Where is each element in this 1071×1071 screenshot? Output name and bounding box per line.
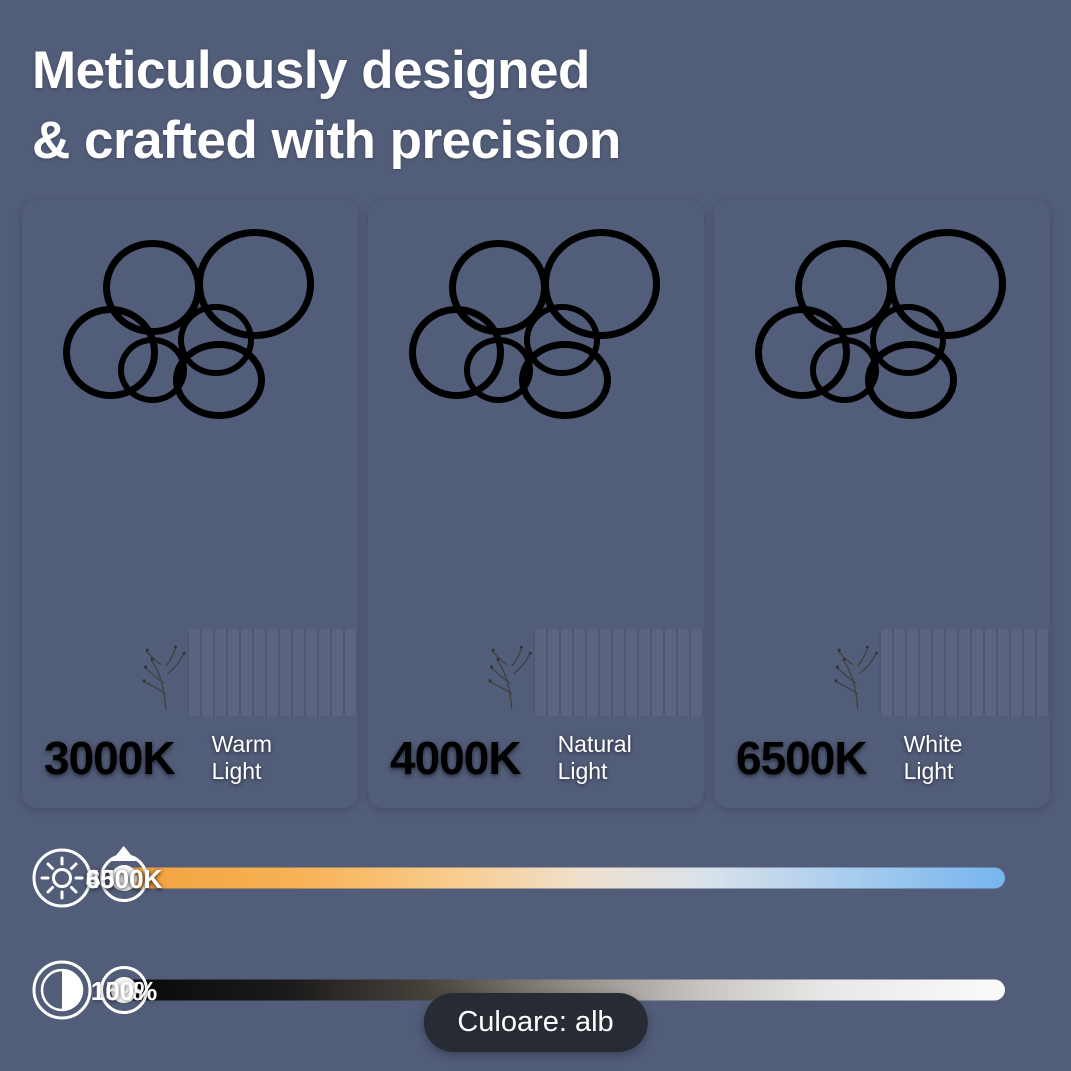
temperature-marker: 6500K <box>86 846 163 895</box>
ceiling-white <box>714 200 1050 583</box>
contrast-icon <box>30 958 94 1022</box>
pendant-cord <box>385 558 388 635</box>
color-temperature-card-list: 3000K Warm Light <box>22 200 1050 808</box>
light-type-line-2: Light <box>904 758 963 785</box>
light-type-line-1: White <box>904 731 963 758</box>
lamp-ring <box>173 341 265 420</box>
lamp-ring <box>865 341 957 420</box>
kelvin-value: 6500K <box>736 735 867 781</box>
light-type-line-1: Natural <box>558 731 632 758</box>
temperature-track-wrap[interactable]: 3000K 4000K 6500K <box>124 846 1040 910</box>
led-ring-lamp <box>738 223 1027 430</box>
light-type-label: Warm Light <box>212 731 272 785</box>
temperature-markers: 3000K 4000K 6500K <box>124 846 1005 926</box>
color-temperature-card-4000k[interactable]: 4000K Natural Light <box>368 200 704 808</box>
pendant-cord <box>39 558 42 635</box>
light-type-label: Natural Light <box>558 731 632 785</box>
color-temperature-slider-row: 3000K 4000K 6500K <box>30 838 1040 918</box>
led-ring-lamp <box>392 223 681 430</box>
light-type-line-2: Light <box>212 758 272 785</box>
kelvin-value: 4000K <box>390 735 521 781</box>
color-status-badge: Culoare: alb <box>423 993 647 1052</box>
light-type-line-2: Light <box>558 758 632 785</box>
ceiling-warm <box>22 200 358 583</box>
pendant-cord <box>731 558 734 635</box>
color-temperature-card-3000k[interactable]: 3000K Warm Light <box>22 200 358 808</box>
card-caption: 6500K White Light <box>714 708 1050 808</box>
headline-line-2: & crafted with precision <box>32 106 1042 176</box>
card-caption: 4000K Natural Light <box>368 708 704 808</box>
led-ring-lamp <box>46 223 335 430</box>
kelvin-value: 3000K <box>44 735 175 781</box>
caption-divider <box>885 732 888 784</box>
sun-brightness-icon <box>30 846 94 910</box>
brightness-max-label: 100% <box>91 976 158 1007</box>
card-caption: 3000K Warm Light <box>22 708 358 808</box>
color-temperature-card-6500k[interactable]: 6500K White Light <box>714 200 1050 808</box>
light-type-line-1: Warm <box>212 731 272 758</box>
caption-divider <box>193 732 196 784</box>
ceiling-natural <box>368 200 704 583</box>
caption-divider <box>539 732 542 784</box>
headline-line-1: Meticulously designed <box>32 36 1042 106</box>
light-type-label: White Light <box>904 731 963 785</box>
brightness-max-marker: 100% <box>91 958 158 1007</box>
page-title: Meticulously designed & crafted with pre… <box>32 36 1042 176</box>
lamp-ring <box>519 341 611 420</box>
marker-label: 6500K <box>86 864 163 895</box>
